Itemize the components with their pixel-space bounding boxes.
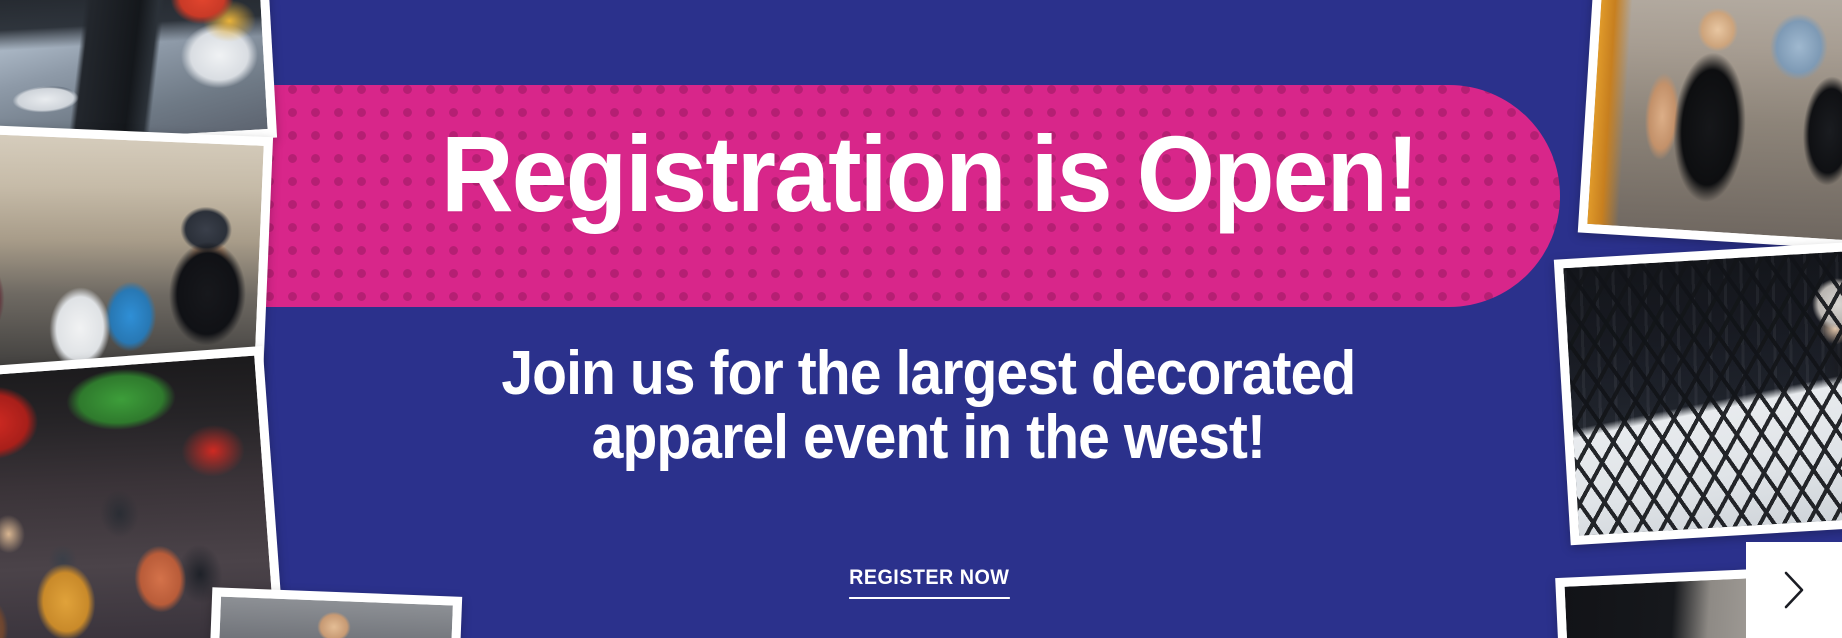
hero-carousel-slide: Registration is Open! Join us for the la… bbox=[0, 0, 1842, 638]
hero-subheadline-line-1: Join us for the largest decorated bbox=[88, 342, 1768, 406]
hero-cta-container: REGISTER NOW bbox=[0, 566, 1842, 599]
register-now-button[interactable]: REGISTER NOW bbox=[849, 566, 1009, 599]
hero-subheadline: Join us for the largest decorated appare… bbox=[74, 342, 1769, 470]
carousel-next-button[interactable] bbox=[1746, 542, 1842, 638]
chevron-right-icon bbox=[1781, 570, 1807, 610]
hero-headline: Registration is Open! bbox=[64, 120, 1777, 228]
hero-subheadline-line-2: apparel event in the west! bbox=[88, 406, 1768, 470]
